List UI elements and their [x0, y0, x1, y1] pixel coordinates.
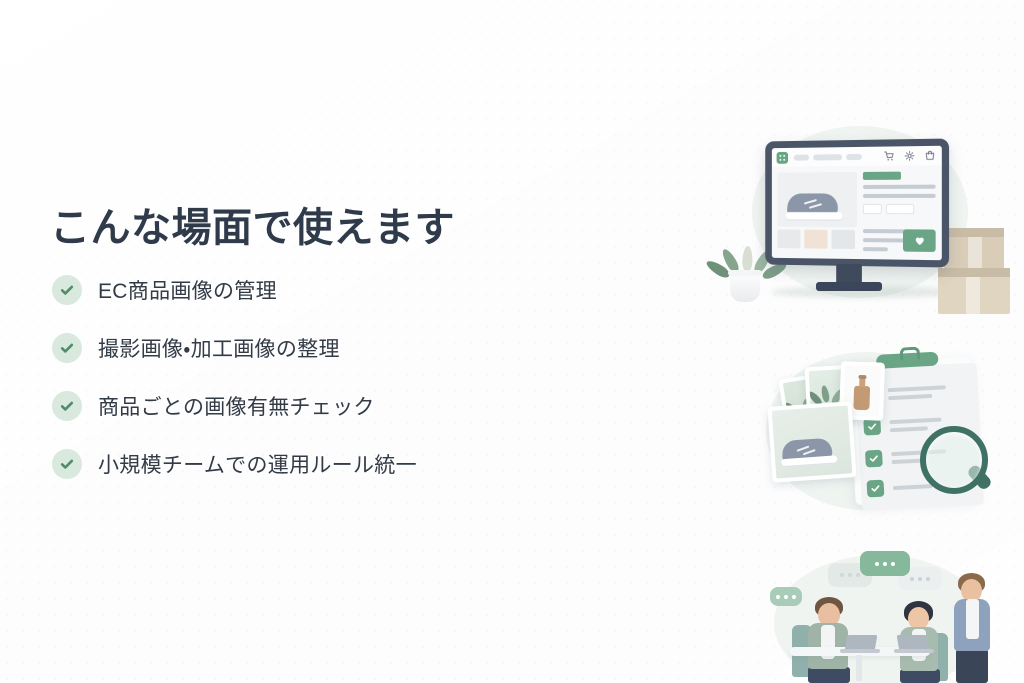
store-logo-icon [777, 152, 788, 164]
text-line [863, 238, 908, 242]
speech-bubble [860, 551, 910, 576]
slide-canvas: こんな場面で使えます EC商品画像の管理 撮影画像・加工画像の整理 [0, 0, 1024, 683]
checkbox-checked-icon [865, 450, 883, 468]
clipboard-clip [876, 352, 939, 369]
thumbnail [804, 230, 827, 249]
text-line [863, 194, 936, 198]
team-meeting-illustration [748, 535, 1024, 683]
sneaker-product-image [778, 172, 857, 227]
clipboard-checklist-illustration [748, 348, 1024, 516]
gear-icon [904, 150, 915, 161]
thumbnail [778, 229, 801, 248]
magnifier-icon [920, 426, 994, 502]
ecommerce-monitor-illustration [706, 118, 1024, 318]
list-item: 撮影画像・加工画像の整理 [52, 326, 417, 370]
text-line [863, 247, 888, 251]
list-item-label: EC商品画像の管理 [98, 275, 277, 305]
check-circle-icon [52, 391, 82, 421]
list-item: EC商品画像の管理 [52, 268, 417, 312]
nav-pill [794, 155, 809, 161]
checkbox-checked-icon [867, 480, 885, 498]
thumbnail-strip [778, 229, 855, 249]
option-input [863, 204, 882, 214]
page-title: こんな場面で使えます [50, 205, 455, 251]
text-line [863, 185, 936, 189]
list-item: 小規模チームでの運用ルール統一 [52, 442, 417, 486]
table-leg [856, 655, 862, 681]
favorite-button[interactable] [903, 229, 936, 252]
monitor [765, 138, 949, 267]
nav-pill [846, 154, 862, 160]
torso [808, 623, 848, 669]
heart-icon [914, 235, 925, 246]
option-input [886, 204, 914, 214]
photo-card-shoe [767, 401, 856, 483]
feature-list: EC商品画像の管理 撮影画像・加工画像の整理 商品ごとの画像有無チェック [52, 268, 417, 500]
check-circle-icon [52, 333, 82, 363]
list-item-label: 商品ごとの画像有無チェック [98, 391, 375, 421]
check-circle-icon [52, 275, 82, 305]
monitor-screen [772, 146, 942, 260]
torso [954, 599, 990, 651]
list-item-label: 撮影画像・加工画像の整理 [98, 333, 340, 363]
bag-icon [924, 150, 935, 161]
list-item-label: 小規模チームでの運用ルール統一 [98, 449, 417, 479]
thumbnail [831, 230, 855, 249]
product-detail-column [863, 171, 936, 214]
nav-pill [813, 154, 842, 160]
cardboard-box-bottom [938, 268, 1010, 314]
person-right-standing [944, 563, 1004, 683]
check-circle-icon [52, 449, 82, 479]
product-title-bar [863, 172, 901, 180]
cardboard-box-top [944, 228, 1004, 270]
product-page-body [772, 165, 942, 260]
monitor-base [816, 282, 882, 291]
list-item: 商品ごとの画像有無チェック [52, 384, 417, 428]
cart-icon [884, 150, 895, 161]
